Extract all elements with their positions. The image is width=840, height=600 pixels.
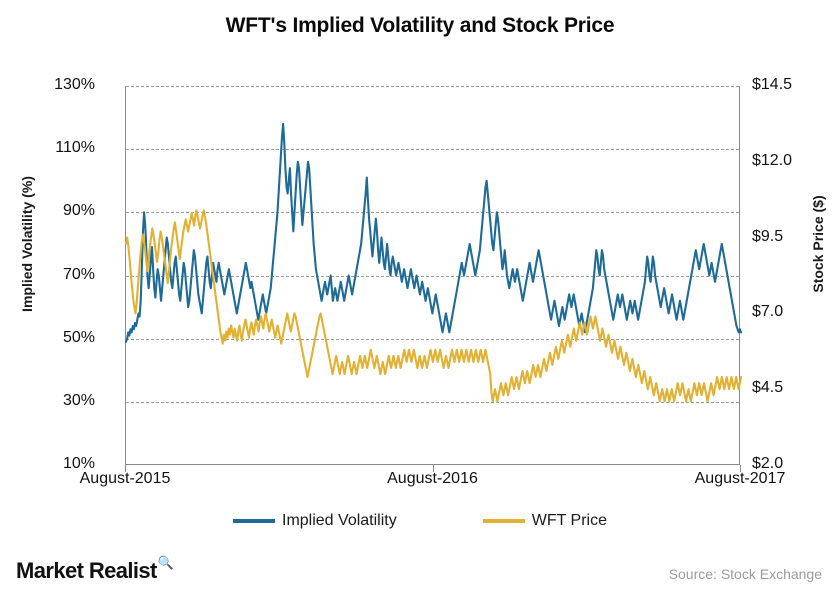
y-axis-left-tick-label: 30% <box>5 392 95 410</box>
x-axis-tick-label: August-2017 <box>695 470 786 488</box>
legend-label: Implied Volatility <box>282 512 397 530</box>
magnifier-icon: 🔍 <box>158 555 174 571</box>
y-axis-right-tick-label: $9.5 <box>752 228 840 246</box>
y-axis-right-tick-label: $14.5 <box>752 76 840 94</box>
logo-text: Market Realist <box>16 558 157 584</box>
x-axis-tick-label: August-2016 <box>387 470 478 488</box>
y-axis-right-tick-label: $4.5 <box>752 379 840 397</box>
y-axis-right-tick-label: $7.0 <box>752 303 840 321</box>
legend-swatch <box>483 519 525 523</box>
series-lines <box>126 86 741 465</box>
y-axis-left-title: Implied Volatility (%) <box>19 154 35 334</box>
market-realist-logo: Market Realist 🔍 <box>16 558 173 584</box>
plot-area <box>125 86 740 465</box>
legend-swatch <box>233 519 275 523</box>
y-axis-left-tick-label: 110% <box>5 139 95 157</box>
y-axis-left-tick-label: 90% <box>5 202 95 220</box>
y-axis-left-tick-label: 130% <box>5 76 95 94</box>
legend-item-wft-price[interactable]: WFT Price <box>483 512 607 530</box>
legend-label: WFT Price <box>532 512 607 530</box>
legend-item-implied-volatility[interactable]: Implied Volatility <box>233 512 397 530</box>
y-axis-left-tick-label: 50% <box>5 329 95 347</box>
y-axis-left-tick-label: 70% <box>5 266 95 284</box>
source-label: Source: Stock Exchange <box>669 566 822 582</box>
chart-container: WFT's Implied Volatility and Stock Price… <box>0 0 840 600</box>
y-axis-right-tick-label: $12.0 <box>752 152 840 170</box>
chart-legend: Implied VolatilityWFT Price <box>0 512 840 530</box>
x-axis-tick-label: August-2015 <box>80 470 171 488</box>
page-title: WFT's Implied Volatility and Stock Price <box>0 14 840 38</box>
